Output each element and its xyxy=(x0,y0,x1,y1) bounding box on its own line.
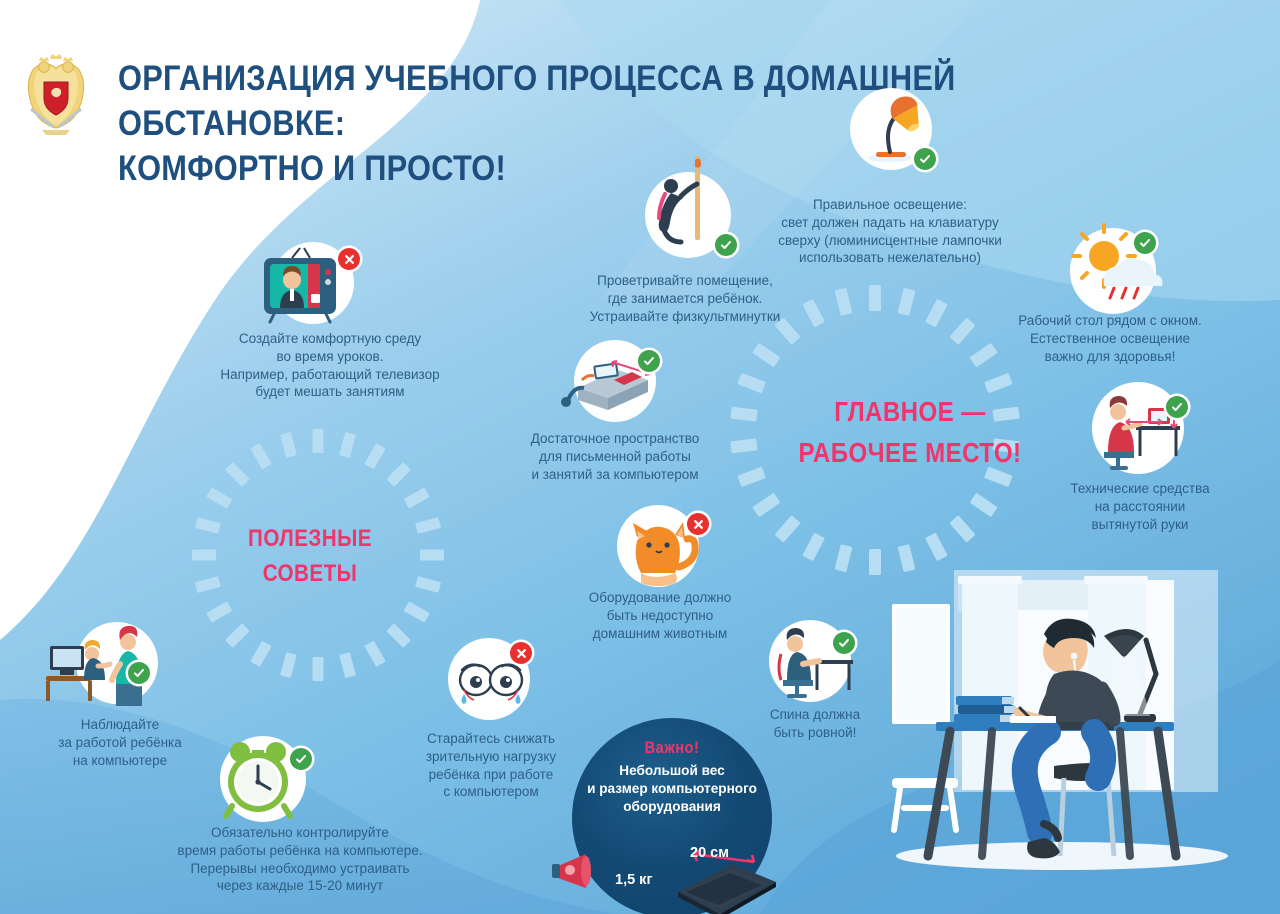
tip-pets-caption: Оборудование должно быть недоступно дома… xyxy=(565,589,755,642)
caption-line: сверху (люминисцентные лампочки xyxy=(740,232,1040,250)
caption-line: Устраивайте физкультминутки xyxy=(545,308,825,326)
caption-line: Естественное освещение xyxy=(990,330,1230,348)
important-line: и размер компьютерного xyxy=(578,780,766,798)
posture-badge-ok xyxy=(833,632,855,654)
caption-line: важно для здоровья! xyxy=(990,348,1230,366)
heading-useful-tips: Полезные советы xyxy=(181,522,439,592)
supervise-badge-ok xyxy=(128,662,150,684)
tip-lighting-caption: Правильное освещение: свет должен падать… xyxy=(740,196,1040,267)
caption-line: через каждые 15-20 минут xyxy=(140,877,460,895)
caption-line: использовать нежелательно) xyxy=(740,249,1040,267)
caption-line: время работы ребёнка на компьютере. xyxy=(140,842,460,860)
caption-line: Оборудование должно xyxy=(565,589,755,607)
coat-of-arms-icon xyxy=(22,52,90,136)
student-at-desk-illustration xyxy=(858,556,1280,914)
caption-line: ребёнка при работе xyxy=(398,766,584,784)
caption-line: свет должен падать на клавиатуру xyxy=(740,214,1040,232)
lighting-badge-ok xyxy=(914,148,936,170)
page-header: Организация учебного процесса в домашней… xyxy=(0,34,1200,154)
eyes-badge-no xyxy=(510,642,532,664)
caption-line: Перерывы необходимо устраивать xyxy=(140,860,460,878)
tablet-weight-label: 1,5 кг xyxy=(615,872,652,888)
clock-badge-ok xyxy=(290,748,312,770)
caption-line: Рабочий стол рядом с окном. xyxy=(990,312,1230,330)
caption-line: быть недоступно xyxy=(565,607,755,625)
ventilation-badge-ok xyxy=(715,234,737,256)
caption-line: домашним животным xyxy=(565,625,755,643)
caption-line: вытянутой руки xyxy=(1050,516,1230,534)
caption-line: на расстоянии xyxy=(1050,498,1230,516)
tip-eyestrain-caption: Старайтесь снижать зрительную нагрузку р… xyxy=(398,730,584,801)
important-line: оборудования xyxy=(578,798,766,816)
caption-line: Обязательно контролируйте xyxy=(140,824,460,842)
important-line: Небольшой вес xyxy=(578,762,766,780)
caption-line: Технические средства xyxy=(1050,480,1230,498)
pets-badge-no xyxy=(687,513,709,535)
caption-line: и занятий за компьютером xyxy=(500,466,730,484)
infographic-canvas: Организация учебного процесса в домашней… xyxy=(0,0,1280,914)
heading-tips-line-1: Полезные xyxy=(181,522,439,557)
caption-line: Проветривайте помещение, xyxy=(545,272,825,290)
daylight-badge-ok xyxy=(1134,232,1156,254)
caption-line: с компьютером xyxy=(398,783,584,801)
tip-deskspace-caption: Достаточное пространство для письменной … xyxy=(500,430,730,483)
important-body: Небольшой вес и размер компьютерного обо… xyxy=(578,762,766,816)
caption-line: где занимается ребёнок. xyxy=(545,290,825,308)
caption-line: на компьютере xyxy=(10,752,230,770)
tv-badge-no xyxy=(338,248,360,270)
television-icon xyxy=(252,242,352,328)
caption-line: будет мешать занятиям xyxy=(190,383,470,401)
tip-daylight-caption: Рабочий стол рядом с окном. Естественное… xyxy=(990,312,1230,365)
caption-line: Достаточное пространство xyxy=(500,430,730,448)
page-title-line-1: Организация учебного процесса в домашней… xyxy=(118,59,956,143)
tip-armreach-caption: Технические средства на расстоянии вытян… xyxy=(1050,480,1230,533)
caption-line: Правильное освещение: xyxy=(740,196,1040,214)
tip-timelimit-caption: Обязательно контролируйте время работы р… xyxy=(140,824,460,895)
caption-line: Например, работающий телевизор xyxy=(190,366,470,384)
caption-line: зрительную нагрузку xyxy=(398,748,584,766)
caption-line: для письменной работы xyxy=(500,448,730,466)
megaphone-icon xyxy=(552,850,612,900)
tablet-icon xyxy=(672,862,782,914)
heading-tips-line-2: советы xyxy=(181,557,439,592)
tip-supervise-caption: Наблюдайте за работой ребёнка на компьют… xyxy=(10,716,230,769)
heading-main-line-1: Главное — xyxy=(747,392,1074,433)
caption-line: Создайте комфортную среду xyxy=(190,330,470,348)
armreach-badge-ok xyxy=(1166,396,1188,418)
caption-line: во время уроков. xyxy=(190,348,470,366)
important-title: Важно! xyxy=(586,738,758,758)
heading-main-workspace: Главное — Рабочее место! xyxy=(747,392,1074,473)
tablet-size-label: 20 см xyxy=(690,845,729,861)
heading-main-line-2: Рабочее место! xyxy=(747,433,1074,474)
tip-ventilation-caption: Проветривайте помещение, где занимается … xyxy=(545,272,825,325)
caption-line: Старайтесь снижать xyxy=(398,730,584,748)
deskspace-badge-ok xyxy=(638,350,660,372)
alarm-clock-icon xyxy=(214,732,314,828)
tip-tv-caption: Создайте комфортную среду во время уроко… xyxy=(190,330,470,401)
caption-line: за работой ребёнка xyxy=(10,734,230,752)
caption-line: Наблюдайте xyxy=(10,716,230,734)
